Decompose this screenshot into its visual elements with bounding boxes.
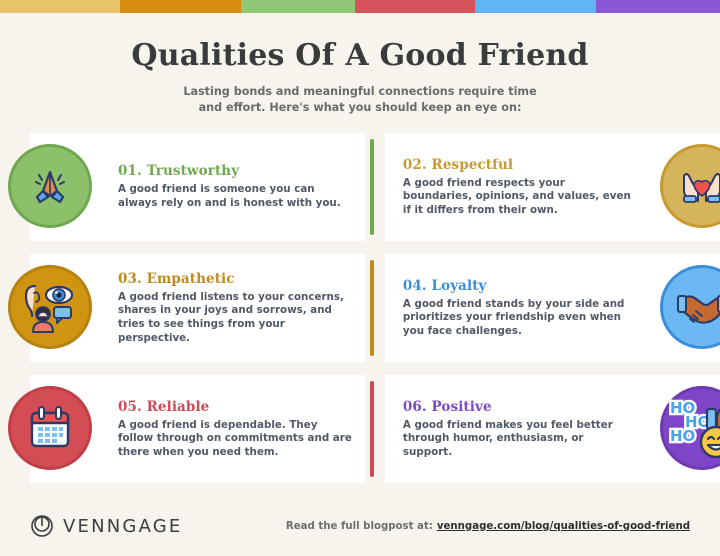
quality-desc-04: A good friend stands by your side and pr… <box>403 298 632 339</box>
top-bar-segment-1 <box>0 0 120 13</box>
quality-badge-05 <box>8 386 92 470</box>
quality-title-02: 02. Respectful <box>403 157 632 173</box>
quality-title-06: 06. Positive <box>403 399 632 415</box>
calendar-icon <box>11 389 89 467</box>
venn-diagram-icon <box>30 514 54 538</box>
quality-text-05: 05. Reliable A good friend is dependable… <box>118 399 355 460</box>
quality-badge-04 <box>660 265 720 349</box>
quality-card-03[interactable]: 03. Empathetic A good friend listens to … <box>30 254 365 362</box>
page-subtitle-line-2: and effort. Here's what you should keep … <box>0 100 720 116</box>
qualities-row-3: 05. Reliable A good friend is dependable… <box>0 375 720 483</box>
quality-desc-05: A good friend is dependable. They follow… <box>118 419 355 460</box>
quality-desc-02: A good friend respects your boundaries, … <box>403 177 632 218</box>
footer-note-prefix: Read the full blogpost at: <box>286 521 433 532</box>
header: Qualities Of A Good Friend Lasting bonds… <box>0 13 720 116</box>
quality-text-02: 02. Respectful A good friend respects yo… <box>403 157 632 218</box>
footer: VENNGAGE Read the full blogpost at: venn… <box>0 496 720 556</box>
ear-eye-listener-glyph <box>21 280 79 334</box>
quality-desc-03: A good friend listens to your concerns, … <box>118 291 355 345</box>
page-subtitle: Lasting bonds and meaningful connections… <box>0 84 720 116</box>
quality-badge-02 <box>660 144 720 228</box>
quality-card-02[interactable]: 02. Respectful A good friend respects yo… <box>385 133 720 241</box>
quality-badge-01 <box>8 144 92 228</box>
brand-name: VENNGAGE <box>63 516 182 537</box>
open-hands-heart-glyph <box>677 164 720 208</box>
praying-hands-glyph <box>27 163 73 209</box>
quality-title-01: 01. Trustworthy <box>118 163 355 179</box>
qualities-row-2: 03. Empathetic A good friend listens to … <box>0 254 720 362</box>
top-bar-segment-5 <box>475 0 596 13</box>
praying-hands-icon <box>11 147 89 225</box>
quality-title-05: 05. Reliable <box>118 399 355 415</box>
calendar-glyph <box>27 405 73 451</box>
quality-text-03: 03. Empathetic A good friend listens to … <box>118 271 355 345</box>
quality-card-05[interactable]: 05. Reliable A good friend is dependable… <box>30 375 365 483</box>
footer-blogpost-link[interactable]: venngage.com/blog/qualities-of-good-frie… <box>437 521 690 532</box>
laughing-thumbsup-glyph: HO HO HO <box>667 397 720 459</box>
quality-card-06[interactable]: 06. Positive A good friend makes you fee… <box>385 375 720 483</box>
brand-logo[interactable]: VENNGAGE <box>30 514 182 538</box>
quality-badge-06: HO HO HO <box>660 386 720 470</box>
top-bar-segment-4 <box>355 0 475 13</box>
top-bar-segment-2 <box>120 0 241 13</box>
top-bar-segment-6 <box>596 0 720 13</box>
ho-text-3: HO <box>670 427 695 445</box>
open-hands-heart-icon <box>663 147 720 225</box>
quality-title-04: 04. Loyalty <box>403 278 632 294</box>
quality-desc-01: A good friend is someone you can always … <box>118 183 355 210</box>
ear-eye-listener-icon <box>11 268 89 346</box>
page-title: Qualities Of A Good Friend <box>0 38 720 73</box>
quality-card-04[interactable]: 04. Loyalty A good friend stands by your… <box>385 254 720 362</box>
qualities-row-1: 01. Trustworthy A good friend is someone… <box>0 133 720 241</box>
quality-card-01[interactable]: 01. Trustworthy A good friend is someone… <box>30 133 365 241</box>
top-bar-segment-3 <box>241 0 355 13</box>
divider-bar-left-3 <box>370 381 374 477</box>
quality-badge-03 <box>8 265 92 349</box>
handshake-icon <box>663 268 720 346</box>
quality-text-01: 01. Trustworthy A good friend is someone… <box>118 163 355 210</box>
quality-title-03: 03. Empathetic <box>118 271 355 287</box>
footer-note: Read the full blogpost at: venngage.com/… <box>286 521 690 532</box>
quality-text-04: 04. Loyalty A good friend stands by your… <box>403 278 632 339</box>
qualities-grid: 01. Trustworthy A good friend is someone… <box>0 133 720 483</box>
quality-text-06: 06. Positive A good friend makes you fee… <box>403 399 632 460</box>
divider-bar-left-1 <box>370 139 374 235</box>
laughing-thumbsup-icon: HO HO HO <box>663 389 720 467</box>
handshake-glyph <box>676 287 720 327</box>
quality-desc-06: A good friend makes you feel better thro… <box>403 419 632 460</box>
top-color-bar <box>0 0 720 13</box>
divider-bar-left-2 <box>370 260 374 356</box>
page-subtitle-line-1: Lasting bonds and meaningful connections… <box>0 84 720 100</box>
